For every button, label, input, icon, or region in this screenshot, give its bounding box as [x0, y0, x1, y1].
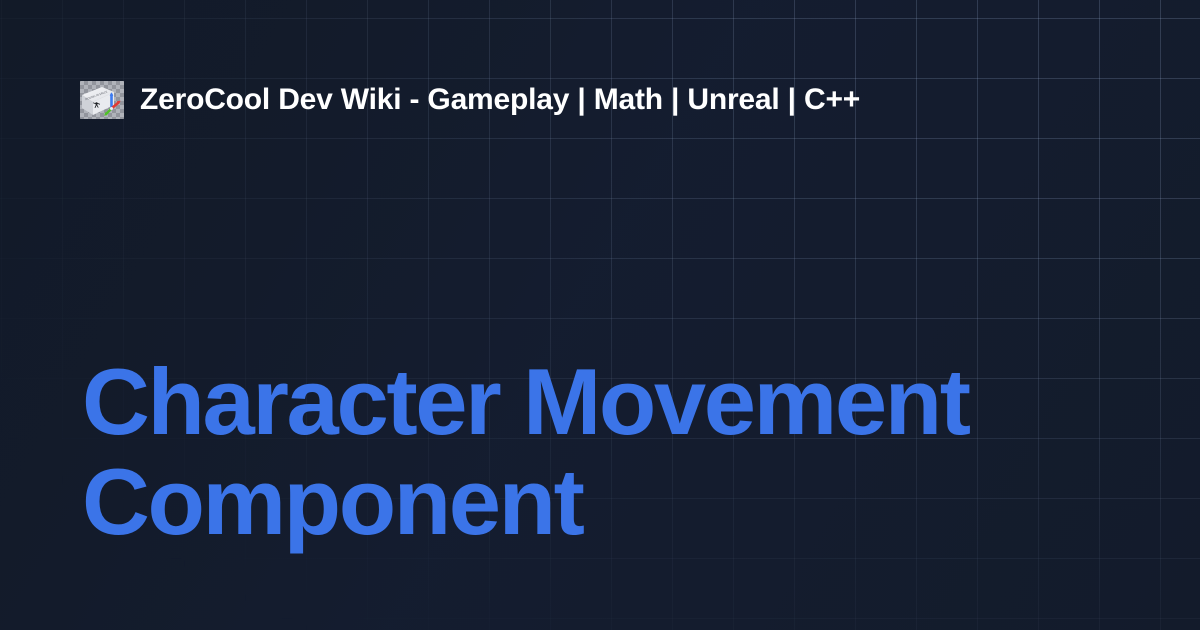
- og-preview-card: MOVING IN SPACE ZeroCool Dev Wiki - Game…: [0, 0, 1200, 630]
- page-title: Character Movement Component: [82, 352, 1102, 552]
- card-content: MOVING IN SPACE ZeroCool Dev Wiki - Game…: [0, 0, 1200, 630]
- unreal-viewport-thumbnail-icon: MOVING IN SPACE: [80, 81, 124, 119]
- site-title: ZeroCool Dev Wiki - Gameplay | Math | Un…: [140, 82, 860, 118]
- site-header: MOVING IN SPACE ZeroCool Dev Wiki - Game…: [80, 78, 860, 122]
